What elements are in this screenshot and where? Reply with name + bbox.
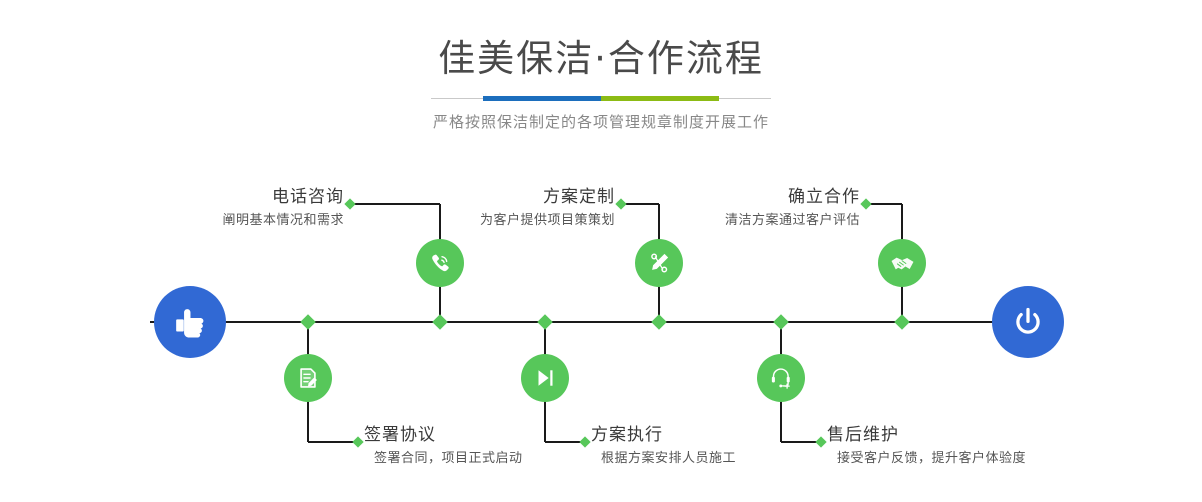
- step-icon-bubble[interactable]: [284, 354, 332, 402]
- step-desc: 根据方案安排人员施工: [591, 446, 736, 469]
- axis-marker-diamond: [432, 314, 448, 330]
- axis-marker-diamond: [300, 314, 316, 330]
- page-subtitle: 严格按照保洁制定的各项管理规章制度开展工作: [0, 99, 1202, 133]
- label-connector-dot: [615, 198, 626, 209]
- step-icon-bubble[interactable]: [416, 239, 464, 287]
- label-connector: [868, 203, 902, 205]
- label-connector-dot: [579, 436, 590, 447]
- title-divider: [431, 98, 771, 99]
- step-desc: 阐明基本情况和需求: [222, 208, 344, 231]
- axis-marker-diamond: [894, 314, 910, 330]
- page-title: 佳美保洁·合作流程: [0, 0, 1202, 82]
- step-desc: 接受客户反馈，提升客户体验度: [827, 446, 1026, 469]
- header: 佳美保洁·合作流程 严格按照保洁制定的各项管理规章制度开展工作: [0, 0, 1202, 133]
- step-title: 确立合作: [725, 186, 860, 208]
- axis-marker-diamond: [651, 314, 667, 330]
- timeline-start-node: [154, 286, 226, 358]
- step-label-3: 方案定制 为客户提供项目策策划: [480, 186, 615, 231]
- handshake-icon: [889, 250, 916, 277]
- flowchart-canvas: 佳美保洁·合作流程 严格按照保洁制定的各项管理规章制度开展工作: [0, 0, 1202, 502]
- label-connector: [308, 441, 356, 443]
- timeline-axis: [150, 321, 1052, 323]
- document-edit-icon: [295, 365, 321, 391]
- step-icon-bubble[interactable]: [521, 354, 569, 402]
- step-label-4: 方案执行 根据方案安排人员施工: [591, 424, 736, 469]
- step-title: 售后维护: [827, 424, 1026, 446]
- pointing-hand-icon: [171, 303, 209, 341]
- step-desc: 签署合同，项目正式启动: [364, 446, 523, 469]
- label-connector-dot: [860, 198, 871, 209]
- step-icon-bubble[interactable]: [757, 354, 805, 402]
- label-connector-dot: [352, 436, 363, 447]
- label-connector-dot: [815, 436, 826, 447]
- divider-segment-green: [601, 96, 719, 101]
- axis-marker-diamond: [537, 314, 553, 330]
- customer-support-icon: [768, 365, 794, 391]
- step-title: 方案执行: [591, 424, 736, 446]
- play-execute-icon: [532, 365, 558, 391]
- step-desc: 清洁方案通过客户评估: [725, 208, 860, 231]
- label-connector: [623, 203, 659, 205]
- phone-call-icon: [427, 250, 453, 276]
- power-button-icon: [1009, 303, 1047, 341]
- label-connector-dot: [344, 198, 355, 209]
- label-connector: [781, 441, 819, 443]
- label-connector: [545, 441, 583, 443]
- step-label-2: 签署协议 签署合同，项目正式启动: [364, 424, 523, 469]
- step-desc: 为客户提供项目策策划: [480, 208, 615, 231]
- label-connector: [352, 203, 440, 205]
- pen-design-icon: [646, 250, 672, 276]
- timeline-end-node: [992, 286, 1064, 358]
- step-label-1: 电话咨询 阐明基本情况和需求: [222, 186, 344, 231]
- step-label-6: 确立合作 清洁方案通过客户评估: [725, 186, 860, 231]
- step-title: 方案定制: [480, 186, 615, 208]
- divider-segment-blue: [483, 96, 601, 101]
- step-icon-bubble[interactable]: [635, 239, 683, 287]
- step-label-5: 售后维护 接受客户反馈，提升客户体验度: [827, 424, 1026, 469]
- step-title: 电话咨询: [222, 186, 344, 208]
- step-icon-bubble[interactable]: [878, 239, 926, 287]
- axis-marker-diamond: [773, 314, 789, 330]
- step-title: 签署协议: [364, 424, 523, 446]
